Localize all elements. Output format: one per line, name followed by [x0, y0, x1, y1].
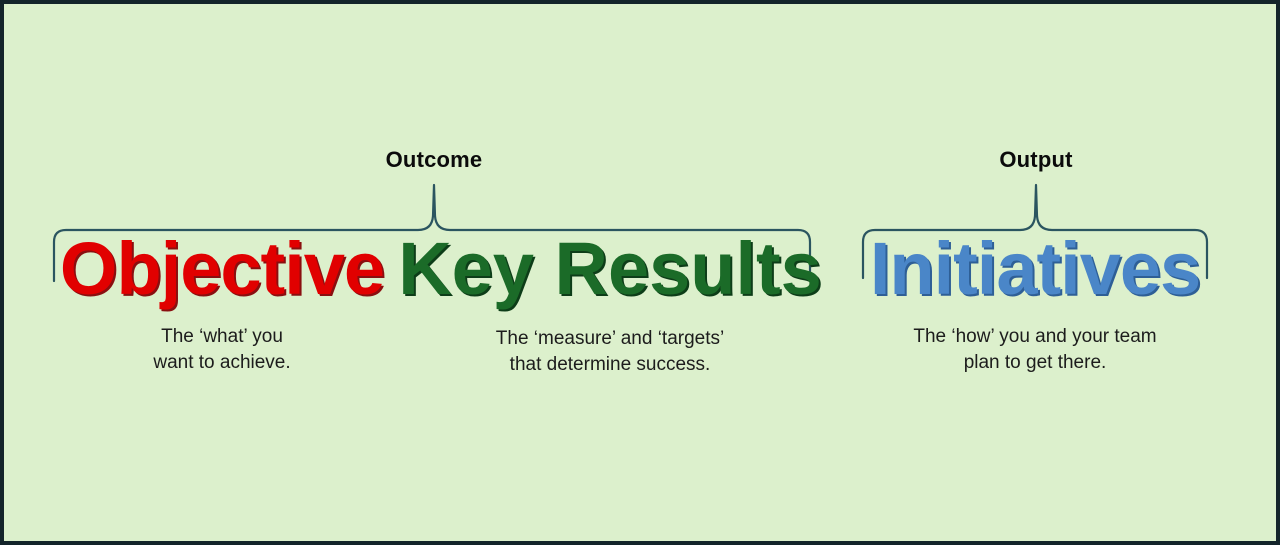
- group-label-output: Output: [999, 147, 1072, 173]
- diagram-frame: Outcome Output Objective Key Results Ini…: [0, 0, 1280, 545]
- caption-objective-line-1: The ‘what’ you: [153, 324, 290, 350]
- caption-objective-line-2: want to achieve.: [153, 350, 290, 376]
- heading-initiatives: Initiatives: [870, 232, 1200, 306]
- caption-key-results: The ‘measure’ and ‘targets’ that determi…: [496, 326, 724, 378]
- caption-initiatives-line-1: The ‘how’ you and your team: [913, 324, 1156, 350]
- caption-initiatives: The ‘how’ you and your team plan to get …: [913, 324, 1156, 376]
- diagram-canvas: Outcome Output Objective Key Results Ini…: [4, 4, 1276, 541]
- caption-key-results-line-1: The ‘measure’ and ‘targets’: [496, 326, 724, 352]
- caption-initiatives-line-2: plan to get there.: [913, 350, 1156, 376]
- heading-objective: Objective: [60, 232, 384, 306]
- heading-key-results: Key Results: [398, 232, 822, 306]
- caption-objective: The ‘what’ you want to achieve.: [153, 324, 290, 376]
- group-label-outcome: Outcome: [386, 147, 483, 173]
- caption-key-results-line-2: that determine success.: [496, 352, 724, 378]
